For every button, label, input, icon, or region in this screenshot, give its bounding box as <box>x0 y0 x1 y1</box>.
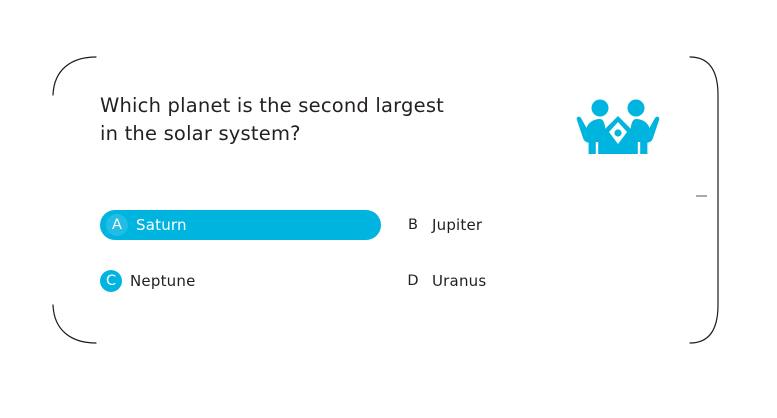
answer-label-d: Uranus <box>432 272 486 290</box>
answer-row-1: A Saturn B Jupiter <box>100 210 520 266</box>
question-line-1: Which planet is the second largest <box>100 92 520 120</box>
answer-option-d[interactable]: D Uranus <box>402 266 486 296</box>
answer-label-a: Saturn <box>136 216 187 234</box>
answer-option-c[interactable]: C Neptune <box>100 266 196 296</box>
answer-label-b: Jupiter <box>432 216 482 234</box>
three-people-diamond-logo <box>576 96 660 156</box>
answer-option-a[interactable]: A Saturn <box>100 210 381 240</box>
right-bracket-decoration <box>688 55 732 345</box>
left-bracket-decoration <box>50 55 98 345</box>
answer-letter-d: D <box>402 270 424 292</box>
question-line-2: in the solar system? <box>100 120 520 148</box>
answer-letter-c: C <box>100 270 122 292</box>
answer-label-c: Neptune <box>130 272 196 290</box>
answer-row-2: C Neptune D Uranus <box>100 266 520 322</box>
answer-option-b[interactable]: B Jupiter <box>402 210 482 240</box>
answer-options-grid: A Saturn B Jupiter C Neptune D Uranus <box>100 210 520 322</box>
answer-letter-a: A <box>106 214 128 236</box>
gray-dash-marker <box>696 195 707 197</box>
quiz-slide: Which planet is the second largest in th… <box>0 0 777 418</box>
answer-letter-b: B <box>402 214 424 236</box>
question-text: Which planet is the second largest in th… <box>100 92 520 147</box>
